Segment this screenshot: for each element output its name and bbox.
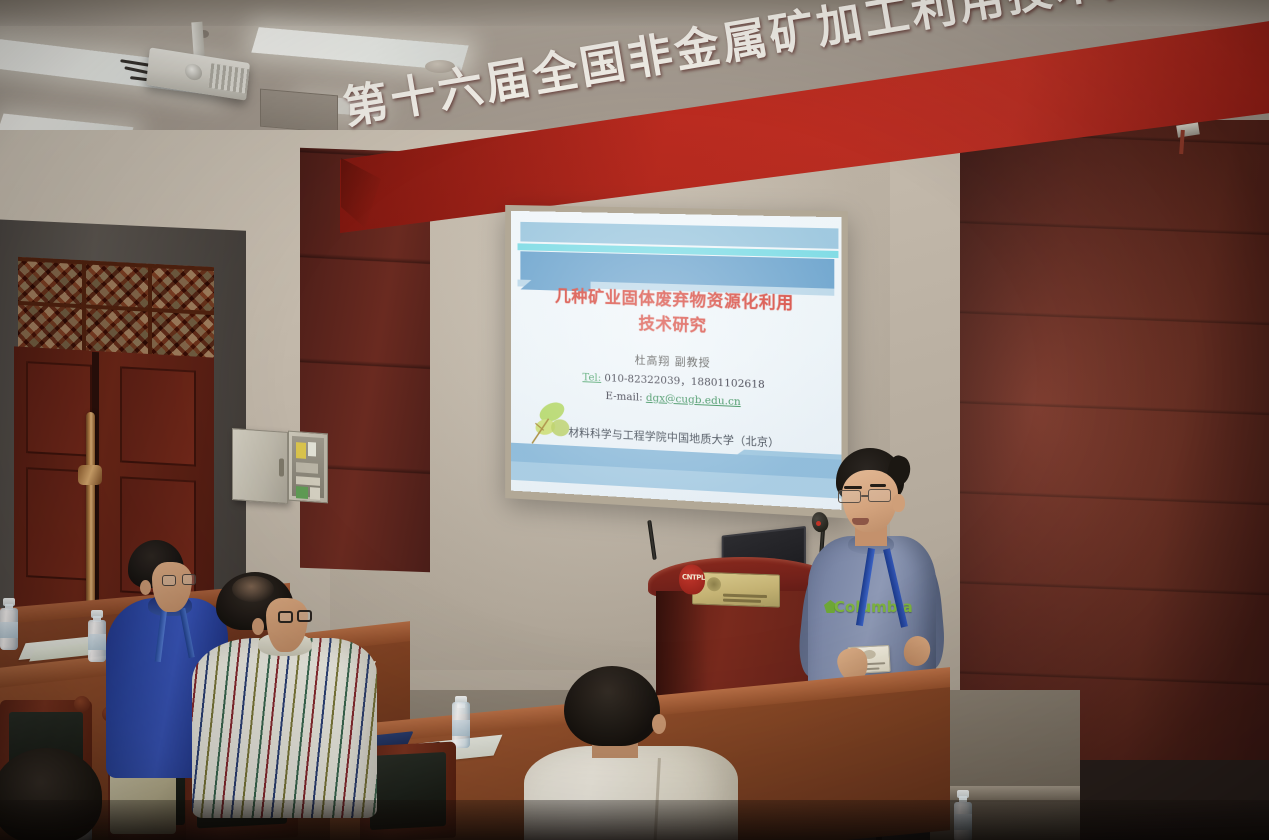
foreground-shadow — [0, 800, 1269, 840]
water-bottle[interactable] — [88, 610, 106, 662]
water-bottle[interactable] — [452, 690, 470, 748]
slide-tel-value: 010-82322039，18801102618 — [604, 372, 764, 391]
slide-title: 几种矿业固体废弃物资源化利用 技术研究 — [527, 284, 825, 343]
audience-ear — [140, 580, 151, 595]
electrical-panel-door[interactable] — [232, 428, 288, 504]
slide-tel-label: Tel: — [582, 371, 601, 384]
electrical-panel-box[interactable] — [288, 431, 328, 504]
audience-eyeglasses — [278, 610, 312, 625]
audience-shirt — [192, 638, 377, 818]
panel-hinge — [279, 458, 284, 476]
audience-scalp-highlight — [232, 576, 274, 602]
leaf-sprout-icon — [527, 398, 577, 450]
door-bar-knob[interactable] — [78, 465, 102, 485]
presenter-eyeglasses — [838, 488, 900, 504]
smoke-detector-icon — [425, 60, 455, 73]
plaque-emblem-icon — [707, 577, 721, 591]
audience-eyeglasses — [162, 574, 196, 588]
organization-logo-icon: CNTPL — [679, 564, 705, 595]
audience-ear — [252, 618, 264, 635]
lattice-dividers — [18, 257, 214, 362]
ceiling-air-vent — [260, 89, 338, 134]
panel-interior — [292, 436, 324, 498]
right-wood-panel — [960, 120, 1269, 760]
slide-email-label: E-mail: — [606, 390, 643, 404]
conference-photo: 第十六届全国非金属矿加工利用技术交流会 几种矿业固体废弃物资源化利用 技术研究 … — [0, 0, 1269, 840]
projected-slide: 几种矿业固体废弃物资源化利用 技术研究 杜高翔 副教授 Tel: 010-823… — [511, 211, 842, 510]
presenter-mouth — [852, 518, 869, 525]
slide-email-value: dgx@cugb.edu.cn — [646, 392, 741, 408]
door-transom-lattice — [18, 257, 214, 362]
audience-hair — [564, 666, 660, 746]
audience-ear — [652, 714, 666, 734]
water-bottle[interactable] — [0, 598, 18, 650]
lectern-plaque: CNTPL — [692, 571, 780, 607]
